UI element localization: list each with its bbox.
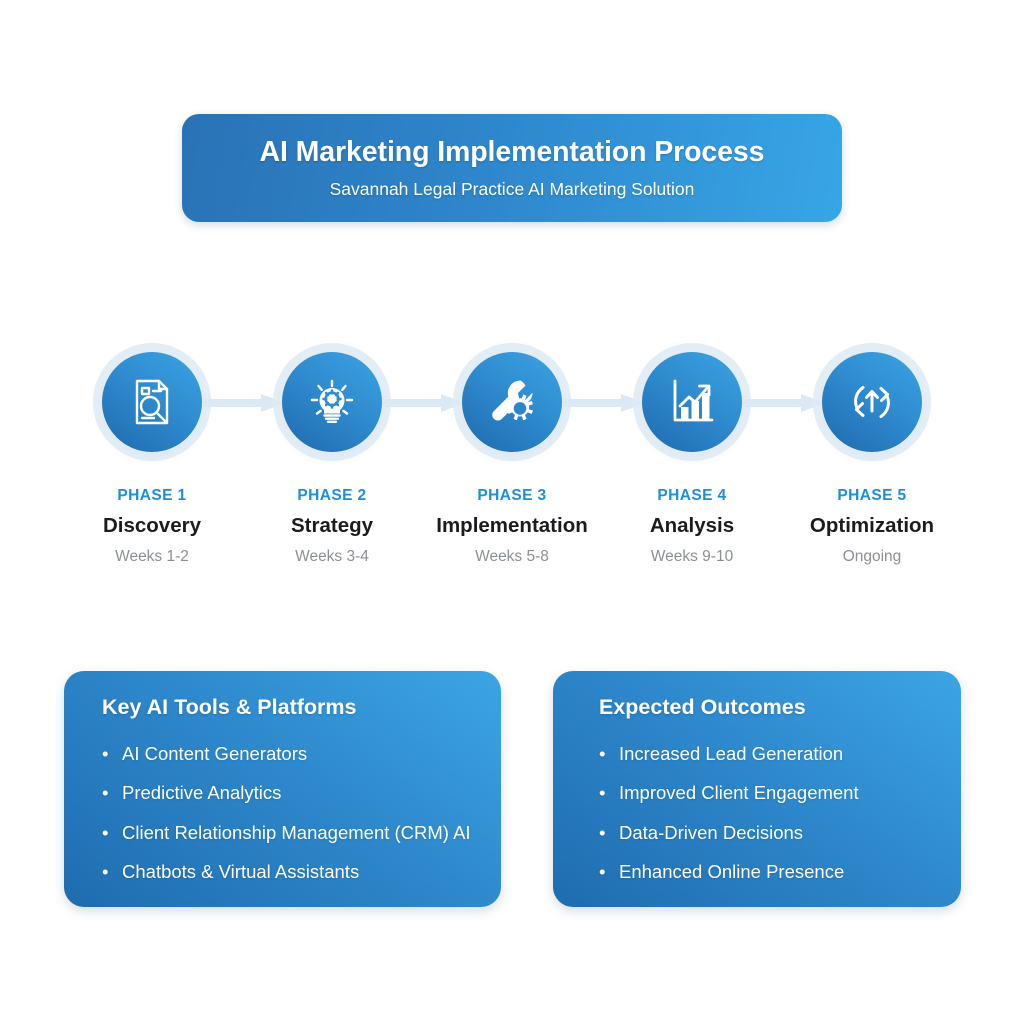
- bullet-icon: •: [599, 824, 605, 843]
- phase-item-5[interactable]: PHASE 5 Optimization Ongoing: [782, 352, 962, 565]
- list-item: •Predictive Analytics: [102, 784, 471, 803]
- document-magnifier-icon: [125, 375, 179, 429]
- expected-outcomes-card: Expected Outcomes •Increased Lead Genera…: [553, 671, 961, 907]
- page-subtitle: Savannah Legal Practice AI Marketing Sol…: [330, 180, 695, 199]
- list-item-label: Data-Driven Decisions: [619, 822, 803, 843]
- phase-circle-4[interactable]: [642, 352, 742, 452]
- list-item-label: Client Relationship Management (CRM) AI: [122, 822, 471, 843]
- phase-duration-4: Weeks 9-10: [651, 549, 733, 565]
- phase-label-1: PHASE 1: [117, 488, 186, 504]
- phase-name-4: Analysis: [650, 516, 734, 537]
- list-item-label: Improved Client Engagement: [619, 782, 859, 803]
- bullet-icon: •: [599, 784, 605, 803]
- page-title: AI Marketing Implementation Process: [260, 137, 765, 168]
- phase-label-3: PHASE 3: [477, 488, 546, 504]
- phase-label-5: PHASE 5: [837, 488, 906, 504]
- list-item: •Client Relationship Management (CRM) AI: [102, 824, 471, 843]
- list-item-label: AI Content Generators: [122, 743, 307, 764]
- phase-circle-5[interactable]: [822, 352, 922, 452]
- list-item-label: Increased Lead Generation: [619, 743, 843, 764]
- phase-name-3: Implementation: [436, 516, 588, 537]
- list-item: •Enhanced Online Presence: [599, 863, 931, 882]
- phase-label-4: PHASE 4: [657, 488, 726, 504]
- tools-list: •AI Content Generators •Predictive Analy…: [102, 745, 471, 882]
- phase-circle-3[interactable]: [462, 352, 562, 452]
- refresh-cycle-icon: [845, 375, 899, 429]
- key-ai-tools-card: Key AI Tools & Platforms •AI Content Gen…: [64, 671, 501, 907]
- list-item-label: Chatbots & Virtual Assistants: [122, 861, 359, 882]
- outcomes-list: •Increased Lead Generation •Improved Cli…: [599, 745, 931, 882]
- phase-duration-1: Weeks 1-2: [115, 549, 189, 565]
- bullet-icon: •: [102, 863, 108, 882]
- list-item: •Chatbots & Virtual Assistants: [102, 863, 471, 882]
- list-item: •Increased Lead Generation: [599, 745, 931, 764]
- bullet-icon: •: [599, 863, 605, 882]
- bar-chart-trend-icon: [665, 375, 719, 429]
- phase-circle-1[interactable]: [102, 352, 202, 452]
- phase-duration-3: Weeks 5-8: [475, 549, 549, 565]
- wrench-gear-icon: [484, 374, 540, 430]
- bullet-icon: •: [102, 745, 108, 764]
- phase-item-4[interactable]: PHASE 4 Analysis Weeks 9-10: [602, 352, 782, 565]
- phase-name-2: Strategy: [291, 516, 373, 537]
- bullet-icon: •: [102, 824, 108, 843]
- bullet-icon: •: [102, 784, 108, 803]
- list-item: •AI Content Generators: [102, 745, 471, 764]
- phase-flow: PHASE 1 Discovery Weeks 1-2: [62, 352, 962, 567]
- phase-item-2[interactable]: PHASE 2 Strategy Weeks 3-4: [242, 352, 422, 565]
- bullet-icon: •: [599, 745, 605, 764]
- list-item: •Data-Driven Decisions: [599, 824, 931, 843]
- phase-item-3[interactable]: PHASE 3 Implementation Weeks 5-8: [422, 352, 602, 565]
- list-item: •Improved Client Engagement: [599, 784, 931, 803]
- phase-label-2: PHASE 2: [297, 488, 366, 504]
- phase-name-1: Discovery: [103, 516, 201, 537]
- list-item-label: Enhanced Online Presence: [619, 861, 844, 882]
- phase-duration-2: Weeks 3-4: [295, 549, 369, 565]
- phase-name-5: Optimization: [810, 516, 934, 537]
- phase-duration-5: Ongoing: [843, 549, 902, 565]
- card-title-tools: Key AI Tools & Platforms: [102, 697, 471, 719]
- lightbulb-gear-icon: [305, 375, 359, 429]
- phase-circle-2[interactable]: [282, 352, 382, 452]
- header-banner: AI Marketing Implementation Process Sava…: [182, 114, 842, 222]
- phase-item-1[interactable]: PHASE 1 Discovery Weeks 1-2: [62, 352, 242, 565]
- card-title-outcomes: Expected Outcomes: [599, 697, 931, 719]
- list-item-label: Predictive Analytics: [122, 782, 281, 803]
